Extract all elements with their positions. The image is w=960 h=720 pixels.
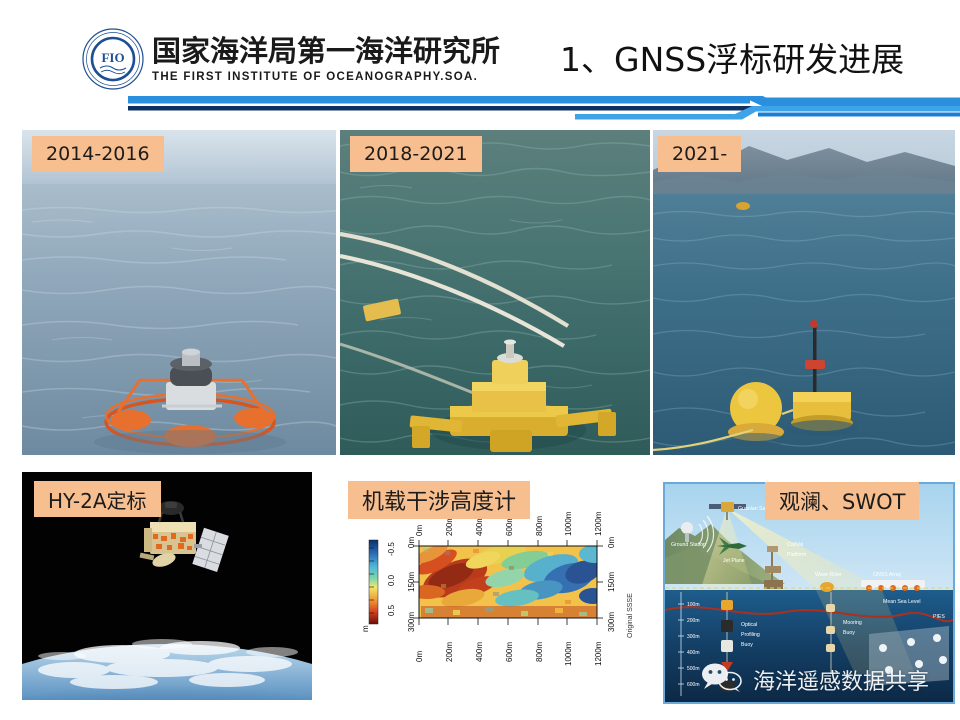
fio-seal-icon: FIO (82, 28, 144, 90)
x-bottom-tick-6: 1200m (594, 642, 603, 666)
panel-airborne-altimeter-chart: m -0.5 0.0 0.5 0m 150m 300m 0m 150m 300m… (355, 520, 645, 685)
institute-name-en: THE FIRST INSTITUTE OF OCEANOGRAPHY.SOA. (152, 70, 500, 85)
photo-buoy-2014-2016 (22, 130, 336, 455)
svg-text:Cal/Val: Cal/Val (787, 542, 803, 548)
panel-label-guanlan-swot: 观澜、SWOT (765, 482, 919, 520)
x-bottom-tick-0: 0m (415, 651, 424, 662)
svg-text:Jet Plane: Jet Plane (723, 558, 745, 564)
x-bottom-tick-5: 1000m (564, 642, 573, 666)
photo-label-2018-2021: 2018-2021 (350, 136, 482, 172)
slide-header: FIO 国家海洋局第一海洋研究所 THE FIRST INSTITUTE OF … (0, 0, 960, 125)
photo-label-2014-2016: 2014-2016 (32, 136, 164, 172)
svg-text:PIES: PIES (933, 614, 945, 620)
page-title: 1、GNSS浮标研发进展 (560, 33, 904, 81)
y-right-tick-2: 300m (607, 612, 616, 632)
header-accent-lines (0, 96, 960, 126)
y-right-tick-1: 150m (607, 572, 616, 592)
wechat-icon (700, 662, 744, 697)
svg-text:Mean Sea Level: Mean Sea Level (883, 599, 921, 605)
colorbar-tick-1: 0.0 (387, 575, 396, 586)
photo-label-2021-present: 2021- (658, 136, 741, 172)
svg-text:Buoy: Buoy (741, 642, 753, 648)
svg-text:300m: 300m (687, 634, 700, 640)
x-bottom-tick-1: 200m (445, 642, 454, 662)
x-bottom-tick-2: 400m (475, 642, 484, 662)
y-left-tick-2: 300m (407, 612, 416, 632)
x-top-tick-4: 800m (535, 516, 544, 536)
watermark-text: 海洋遥感数据共享 (753, 664, 929, 696)
colorbar-tick-2: 0.5 (387, 605, 396, 616)
photo-buoy-2018-2021 (340, 130, 650, 455)
svg-text:Optical: Optical (741, 622, 757, 628)
svg-text:GNSS Array: GNSS Array (873, 572, 902, 578)
svg-text:400m: 400m (687, 650, 700, 656)
svg-text:200m: 200m (687, 618, 700, 624)
svg-text:Profiling: Profiling (741, 632, 760, 638)
y-right-axis-title: Original SSSE (627, 593, 634, 638)
colorbar-tick-0: -0.5 (387, 542, 396, 556)
colorbar-unit: m (361, 625, 370, 632)
svg-text:FIO: FIO (101, 50, 124, 65)
panel-label-airborne-altimeter: 机载干涉高度计 (348, 481, 530, 519)
x-top-tick-5: 1000m (564, 512, 573, 536)
institute-logo-block: FIO 国家海洋局第一海洋研究所 THE FIRST INSTITUTE OF … (82, 28, 500, 90)
svg-text:100m: 100m (687, 602, 700, 608)
panel-label-hy2a: HY-2A定标 (34, 481, 161, 517)
svg-text:600m: 600m (687, 682, 700, 688)
y-left-tick-1: 150m (407, 572, 416, 592)
x-top-tick-0: 0m (415, 525, 424, 536)
svg-text:Buoy: Buoy (843, 630, 855, 636)
x-bottom-tick-3: 600m (505, 642, 514, 662)
photo-buoy-2021-present (653, 130, 955, 455)
y-right-tick-0: 0m (607, 537, 616, 548)
y-left-tick-0: 0m (407, 537, 416, 548)
svg-text:Platform: Platform (787, 552, 806, 558)
svg-text:Ground Station: Ground Station (671, 542, 706, 548)
x-top-tick-6: 1200m (594, 512, 603, 536)
institute-name-cn: 国家海洋局第一海洋研究所 (152, 34, 500, 68)
svg-text:Mooring: Mooring (843, 620, 862, 626)
x-bottom-tick-4: 800m (535, 642, 544, 662)
svg-text:Wave Rider: Wave Rider (815, 572, 842, 578)
wechat-watermark: 海洋遥感数据共享 (700, 662, 929, 697)
svg-text:500m: 500m (687, 666, 700, 672)
